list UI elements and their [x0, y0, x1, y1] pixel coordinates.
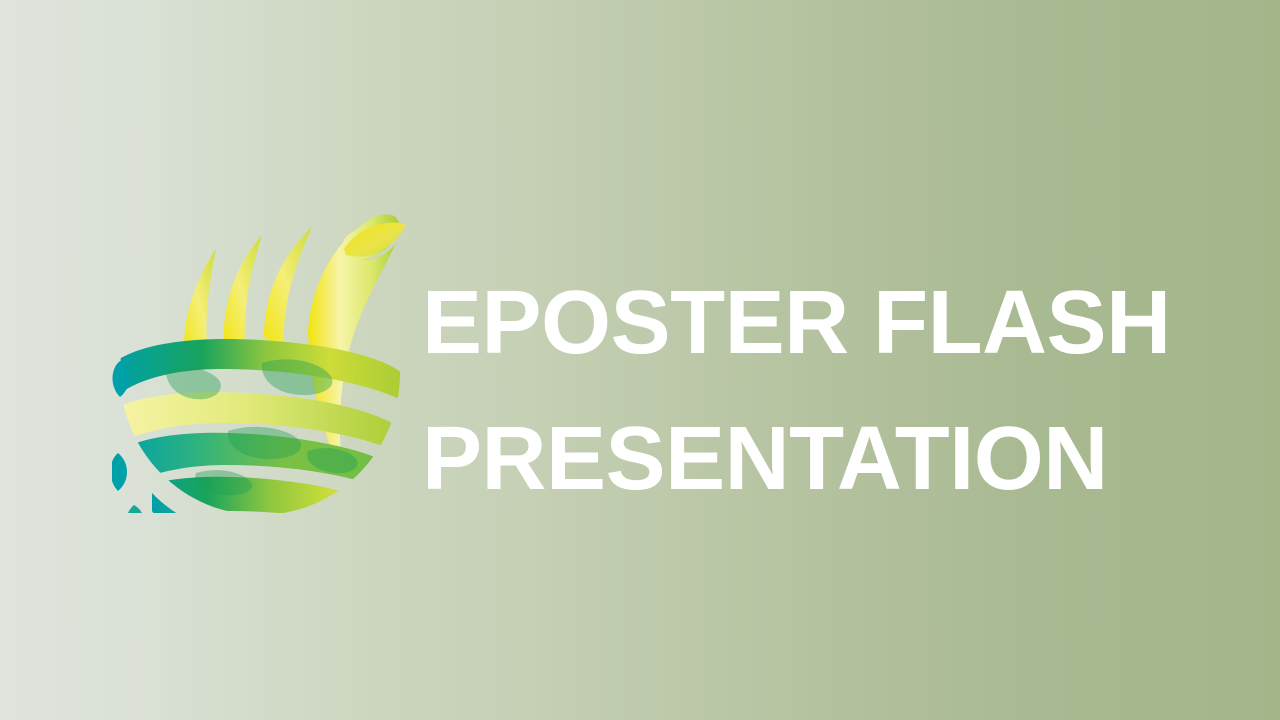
globe-ribbon-logo [112, 205, 408, 513]
slide-content: EPOSTER FLASH PRESENTATION [0, 0, 1280, 720]
title-line-2: PRESENTATION [422, 391, 1212, 527]
title-line-1: EPOSTER FLASH [422, 255, 1212, 391]
page-title: EPOSTER FLASH PRESENTATION [422, 255, 1212, 527]
presentation-slide: EPOSTER FLASH PRESENTATION [0, 0, 1280, 720]
globe-ribbons [112, 214, 406, 513]
